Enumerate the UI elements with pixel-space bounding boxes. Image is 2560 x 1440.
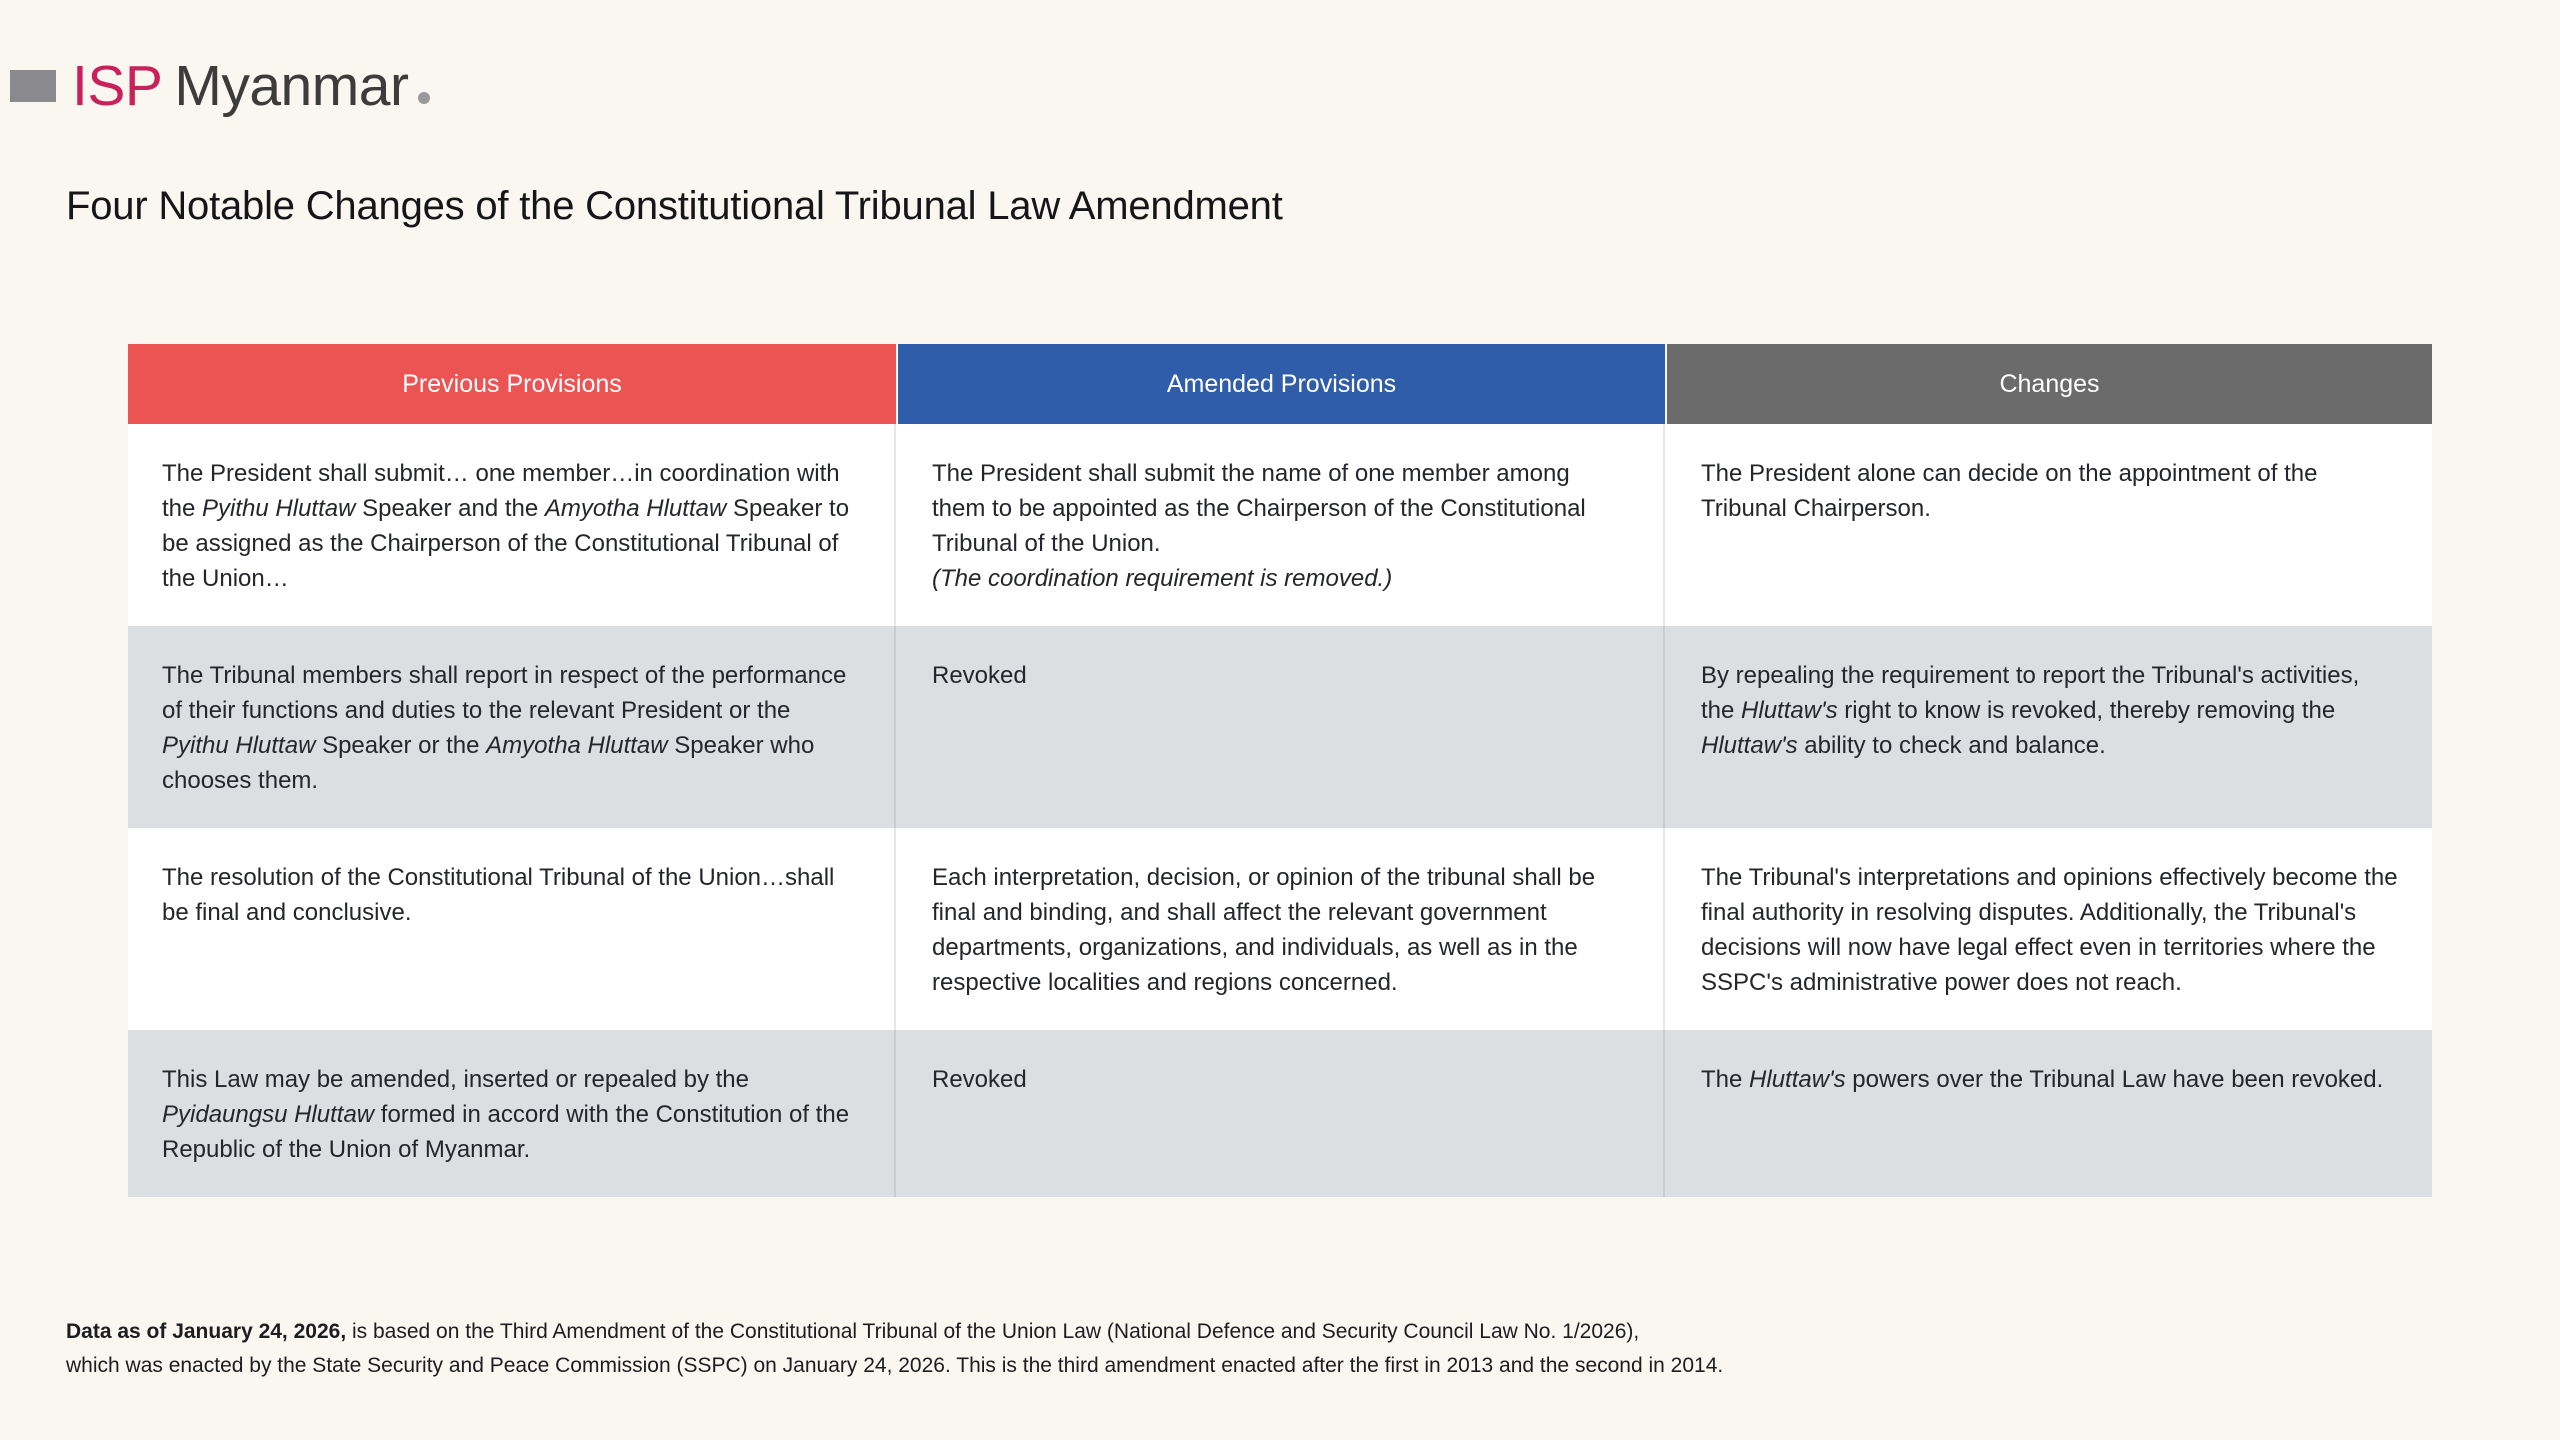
cell-amended-provision: Revoked	[898, 626, 1665, 828]
cell-previous-provision: The Tribunal members shall report in res…	[128, 626, 896, 828]
column-header-changes: Changes	[1667, 344, 2432, 424]
comparison-table: Previous Provisions Amended Provisions C…	[128, 344, 2432, 1197]
table-header-row: Previous Provisions Amended Provisions C…	[128, 344, 2432, 424]
square-icon	[10, 70, 56, 102]
cell-change: The Tribunal's interpretations and opini…	[1667, 828, 2432, 1030]
table-row: This Law may be amended, inserted or rep…	[128, 1030, 2432, 1197]
brand-logo: ISP Myanmar	[10, 58, 430, 114]
logo-isp-text: ISP	[72, 58, 162, 115]
cell-change: By repealing the requirement to report t…	[1667, 626, 2432, 828]
logo-myanmar-text: Myanmar	[174, 58, 408, 115]
column-header-amended-provisions: Amended Provisions	[898, 344, 1665, 424]
cell-change: The President alone can decide on the ap…	[1667, 424, 2432, 626]
table-row: The resolution of the Constitutional Tri…	[128, 828, 2432, 1030]
cell-change: The Hluttaw's powers over the Tribunal L…	[1667, 1030, 2432, 1197]
cell-previous-provision: The resolution of the Constitutional Tri…	[128, 828, 896, 1030]
dot-icon	[418, 92, 430, 104]
table-row: The President shall submit… one member…i…	[128, 424, 2432, 626]
page-title: Four Notable Changes of the Constitution…	[66, 184, 1283, 229]
cell-amended-provision: Revoked	[898, 1030, 1665, 1197]
cell-amended-provision: Each interpretation, decision, or opinio…	[898, 828, 1665, 1030]
column-header-previous-provisions: Previous Provisions	[128, 344, 896, 424]
table-row: The Tribunal members shall report in res…	[128, 626, 2432, 828]
cell-previous-provision: This Law may be amended, inserted or rep…	[128, 1030, 896, 1197]
footnote: Data as of January 24, 2026, is based on…	[66, 1315, 1723, 1383]
cell-amended-provision: The President shall submit the name of o…	[898, 424, 1665, 626]
cell-previous-provision: The President shall submit… one member…i…	[128, 424, 896, 626]
